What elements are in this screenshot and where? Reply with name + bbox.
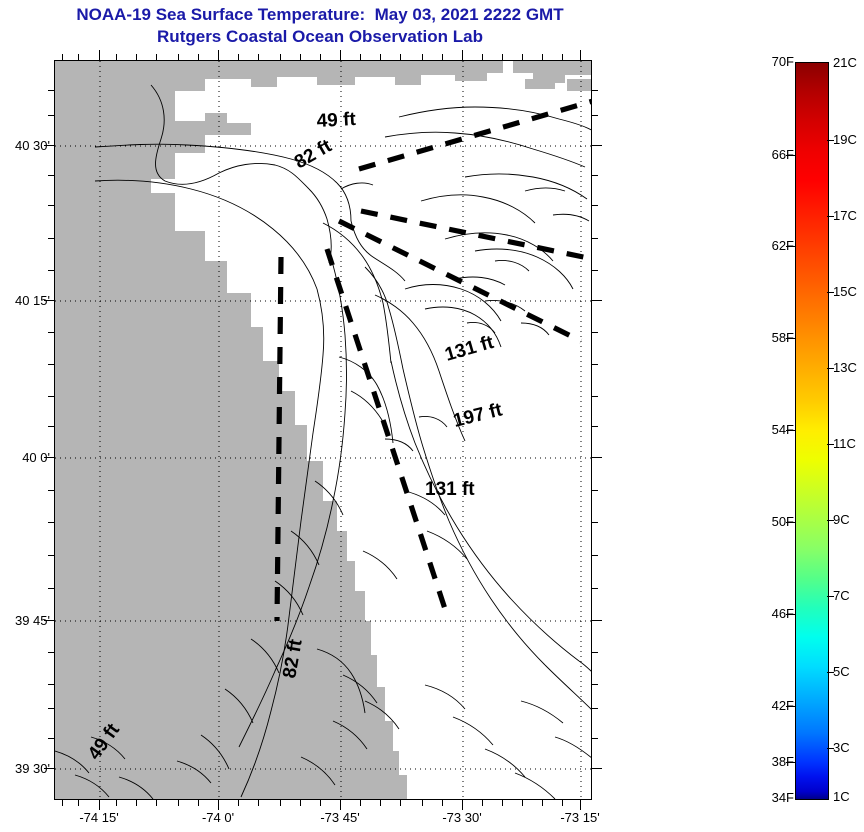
y-tick-label: 39 30' xyxy=(0,761,50,776)
sst-map-page: NOAA-19 Sea Surface Temperature: May 03,… xyxy=(0,0,864,832)
title-line-1: NOAA-19 Sea Surface Temperature: May 03,… xyxy=(0,4,640,26)
map-canvas: 49 ft 82 ft 131 ft 197 ft 131 ft 82 ft 4… xyxy=(55,61,592,800)
temperature-colorbar[interactable] xyxy=(795,62,829,800)
x-tick-label: -74 15' xyxy=(54,810,144,825)
y-tick-label: 40 30' xyxy=(0,138,50,153)
x-tick-label: -73 30' xyxy=(417,810,507,825)
y-tick-label: 39 45' xyxy=(0,613,50,628)
depth-label: 131 ft xyxy=(425,479,475,500)
page-title: NOAA-19 Sea Surface Temperature: May 03,… xyxy=(0,4,640,48)
map-plot-area[interactable]: 49 ft 82 ft 131 ft 197 ft 131 ft 82 ft 4… xyxy=(54,60,592,800)
depth-label: 82 ft xyxy=(291,135,336,173)
y-tick-label: 40 15' xyxy=(0,293,50,308)
depth-label: 131 ft xyxy=(443,332,497,366)
x-tick-label: -73 15' xyxy=(535,810,625,825)
land-mask-layer xyxy=(55,61,592,800)
x-tick-label: -74 0' xyxy=(173,810,263,825)
y-tick-label: 40 0' xyxy=(0,450,50,465)
title-line-2: Rutgers Coastal Ocean Observation Lab xyxy=(0,26,640,48)
depth-label: 49 ft xyxy=(316,109,357,132)
x-tick-label: -73 45' xyxy=(295,810,385,825)
depth-label: 197 ft xyxy=(451,399,505,432)
